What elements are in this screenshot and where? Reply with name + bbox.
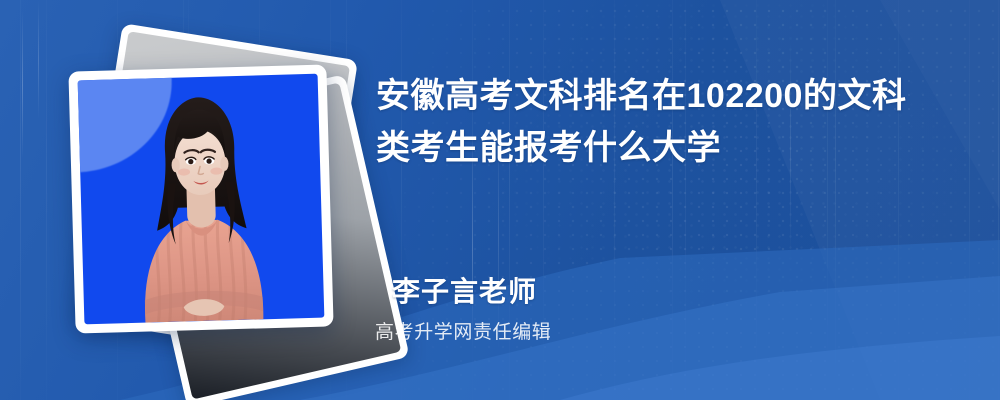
author-photo-card bbox=[68, 64, 333, 333]
photo-card-stack bbox=[40, 22, 360, 372]
author-role: 高考升学网责任编辑 bbox=[375, 317, 551, 344]
author-name: 李子言老师 bbox=[392, 270, 537, 310]
article-cover-banner: 安徽高考文科排名在102200的文科 类考生能报考什么大学 李子言老师 高考升学… bbox=[0, 0, 1000, 400]
cover-title-line-2: 类考生能报考什么大学 bbox=[376, 122, 976, 174]
cover-title-line-1: 安徽高考文科排名在102200的文科 bbox=[376, 70, 976, 122]
author-portrait-photo bbox=[78, 74, 325, 325]
background-light-streak bbox=[22, 10, 23, 160]
background-light-streak bbox=[38, 0, 39, 120]
cover-title: 安徽高考文科排名在102200的文科 类考生能报考什么大学 bbox=[376, 70, 976, 174]
portrait-illustration bbox=[78, 74, 325, 325]
